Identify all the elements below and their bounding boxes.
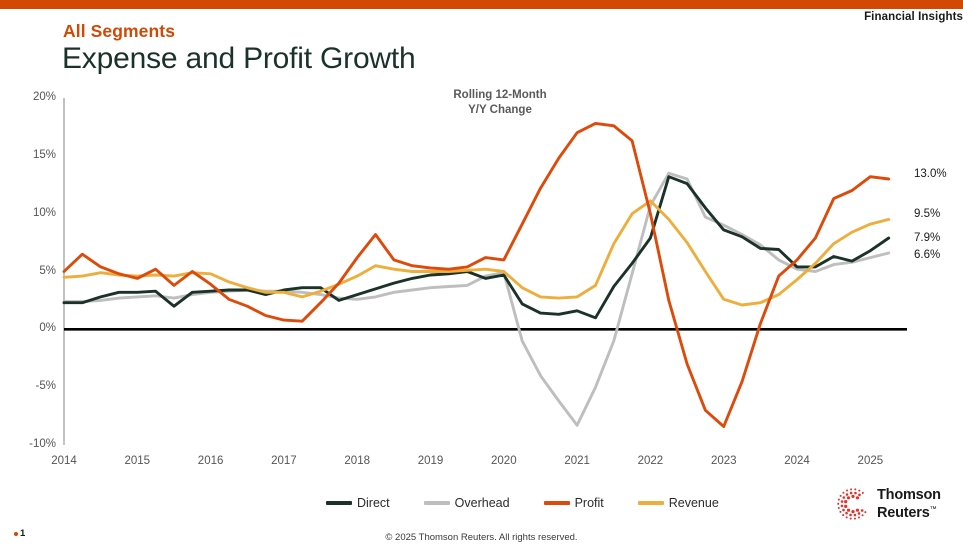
x-axis-tick-label: 2021	[547, 455, 607, 467]
y-axis-tick-label: 20%	[10, 91, 56, 103]
legend-item-overhead[interactable]: Overhead	[424, 496, 510, 510]
slide-eyebrow-label: All Segments	[63, 21, 175, 42]
series-end-label: 7.9%	[914, 232, 940, 244]
chart-subtitle-line2: Y/Y Change	[405, 103, 595, 118]
slide-canvas: Financial Insights All Segments Expense …	[0, 0, 963, 547]
header-category-label: Financial Insights	[864, 11, 963, 23]
legend-item-label: Revenue	[669, 496, 719, 510]
legend-item-direct[interactable]: Direct	[326, 496, 390, 510]
y-axis-tick-label: 0%	[10, 322, 56, 334]
y-axis-tick-label: -10%	[10, 438, 56, 450]
x-axis-tick-label: 2023	[694, 455, 754, 467]
logo-line-2: Reuters	[877, 504, 930, 520]
x-axis-tick-label: 2020	[474, 455, 534, 467]
logo-wordmark: Thomson Reuters™	[877, 488, 941, 520]
page-title: Expense and Profit Growth	[62, 42, 416, 76]
legend-item-label: Direct	[357, 496, 390, 510]
x-axis-tick-label: 2024	[767, 455, 827, 467]
x-axis-tick-label: 2017	[254, 455, 314, 467]
brand-accent-bar	[0, 0, 963, 9]
series-end-label: 9.5%	[914, 208, 940, 220]
legend-item-profit[interactable]: Profit	[544, 496, 604, 510]
y-axis-tick-label: -5%	[10, 380, 56, 392]
legend-item-revenue[interactable]: Revenue	[638, 496, 719, 510]
legend-item-label: Overhead	[455, 496, 510, 510]
legend-swatch-icon	[326, 501, 352, 505]
chart-subtitle-line1: Rolling 12-Month	[405, 88, 595, 103]
series-end-label: 13.0%	[914, 168, 947, 180]
x-axis-tick-label: 2018	[327, 455, 387, 467]
y-axis-tick-label: 10%	[10, 207, 56, 219]
logo-line-1: Thomson	[877, 487, 941, 503]
series-end-label: 6.6%	[914, 249, 940, 261]
copyright-notice: © 2025 Thomson Reuters. All rights reser…	[0, 532, 963, 543]
x-axis-tick-label: 2025	[840, 455, 900, 467]
x-axis-tick-label: 2016	[181, 455, 241, 467]
y-axis-tick-label: 15%	[10, 149, 56, 161]
x-axis-tick-label: 2019	[401, 455, 461, 467]
thomson-reuters-dots-icon	[836, 487, 870, 521]
legend-item-label: Profit	[575, 496, 604, 510]
legend-swatch-icon	[544, 501, 570, 505]
legend-swatch-icon	[424, 501, 450, 505]
x-axis-tick-label: 2022	[620, 455, 680, 467]
chart-legend: DirectOverheadProfitRevenue	[326, 496, 719, 510]
y-axis-tick-label: 5%	[10, 265, 56, 277]
logo-trademark-icon: ™	[930, 506, 937, 513]
x-axis-tick-label: 2015	[107, 455, 167, 467]
thomson-reuters-logo: Thomson Reuters™	[836, 487, 941, 521]
x-axis-tick-label: 2014	[34, 455, 94, 467]
legend-swatch-icon	[638, 501, 664, 505]
chart-subtitle: Rolling 12-Month Y/Y Change	[405, 88, 595, 118]
